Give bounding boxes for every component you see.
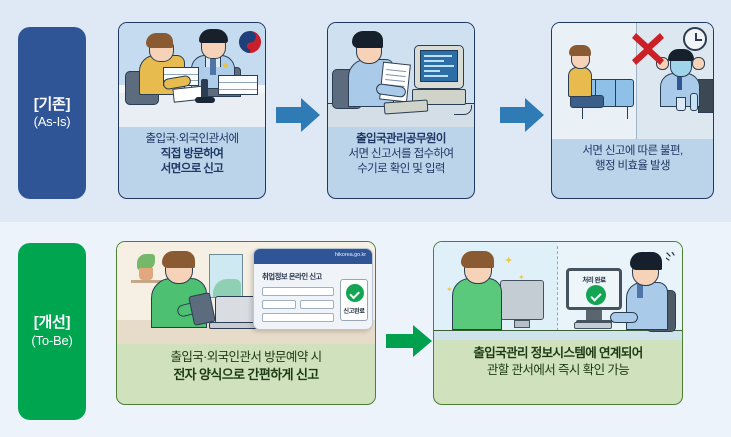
caption-line: 전자 양식으로 간편하게 신고 (120, 366, 372, 383)
clock-icon (683, 27, 707, 51)
caption-line: 서면 신고에 따른 불편, (555, 144, 710, 159)
caption-line: 관할 관서에서 즉시 확인 가능 (437, 362, 679, 379)
green-right-arrow-icon (386, 325, 432, 357)
as-is-panel-1-illustration (119, 23, 265, 127)
stage-label-as-is-main: [기존] (34, 96, 70, 115)
caption-line: 출입국관리 정보시스템에 연계되어 (437, 345, 679, 362)
stage-label-as-is: [기존] (As-Is) (18, 27, 86, 199)
as-is-panel-1: 출입국·외국인관서에 직접 방문하여 서면으로 신고 (118, 22, 266, 199)
caption-line: 수기로 확인 및 입력 (331, 162, 471, 177)
caption-line: 출입국관리공무원이 (331, 132, 471, 147)
to-be-panel-2-illustration: ✦ ✦ ✦ 처리 완료 (434, 242, 682, 340)
korean-government-taegeuk-emblem-icon (237, 29, 263, 55)
officer-monitor: 처리 완료 (566, 268, 622, 310)
to-be-panel-1-caption: 출입국·외국인관서 방문예약 시 전자 양식으로 간편하게 신고 (117, 344, 375, 387)
red-x-icon (630, 29, 666, 65)
as-is-panel-2: 출입국관리공무원이 서면 신고서를 접수하여 수기로 확인 및 입력 (327, 22, 475, 199)
submission-status-badge: 신고완료 (340, 279, 368, 321)
to-be-panel-2-caption: 출입국관리 정보시스템에 연계되어 관할 관서에서 즉시 확인 가능 (434, 340, 682, 382)
browser-url-label: hikorea.go.kr (335, 252, 366, 258)
online-filing-browser-card: hikorea.go.kr 취업정보 온라인 신고 신고완료 (253, 248, 373, 330)
stage-label-to-be: [개선] (To-Be) (18, 243, 86, 420)
as-is-panel-2-illustration (328, 23, 474, 127)
as-is-panel-1-caption: 출입국·외국인관서에 직접 방문하여 서면으로 신고 (119, 127, 265, 182)
form-title: 취업정보 온라인 신고 (262, 271, 322, 282)
stage-label-to-be-main: [개선] (34, 314, 70, 333)
form-field[interactable] (262, 287, 334, 296)
sparkle-icon: ✦ (446, 286, 453, 294)
green-check-circle-icon (586, 285, 606, 305)
form-field[interactable] (300, 300, 334, 309)
as-is-panel-3-caption: 서면 신고에 따른 불편, 행정 비효율 발생 (552, 139, 713, 178)
as-is-panel-3: 서면 신고에 따른 불편, 행정 비효율 발생 (551, 22, 714, 199)
caption-line: 출입국·외국인관서에 (122, 132, 262, 147)
to-be-panel-2: ✦ ✦ ✦ 처리 완료 (433, 241, 683, 405)
caption-line: 행정 비효율 발생 (555, 159, 710, 174)
to-be-row: [개선] (To-Be) hiko (0, 222, 731, 437)
submission-status-label: 신고완료 (341, 306, 367, 315)
caption-line: 서면 신고서를 접수하여 (331, 147, 471, 162)
blue-right-arrow-icon (276, 98, 320, 132)
as-is-panel-3-illustration (552, 23, 713, 139)
caption-line: 서면으로 신고 (122, 162, 262, 177)
blue-right-arrow-icon (500, 98, 544, 132)
caption-line: 직접 방문하여 (122, 147, 262, 162)
green-check-circle-icon (346, 284, 364, 302)
to-be-panel-1: hikorea.go.kr 취업정보 온라인 신고 신고완료 출입국·외국인관서… (116, 241, 376, 405)
processing-status-label: 처리 완료 (569, 275, 619, 284)
as-is-panel-2-caption: 출입국관리공무원이 서면 신고서를 접수하여 수기로 확인 및 입력 (328, 127, 474, 182)
stage-label-to-be-sub: (To-Be) (31, 333, 72, 349)
motion-lines-icon (666, 252, 680, 264)
stage-label-as-is-sub: (As-Is) (34, 114, 71, 130)
caption-line: 출입국·외국인관서 방문예약 시 (120, 349, 372, 366)
sparkle-icon: ✦ (504, 256, 513, 267)
to-be-panel-1-illustration: hikorea.go.kr 취업정보 온라인 신고 신고완료 (117, 242, 375, 344)
sparkle-icon: ✦ (518, 274, 525, 282)
as-is-row: [기존] (As-Is) (0, 0, 731, 222)
form-field[interactable] (262, 313, 334, 322)
form-field[interactable] (262, 300, 296, 309)
